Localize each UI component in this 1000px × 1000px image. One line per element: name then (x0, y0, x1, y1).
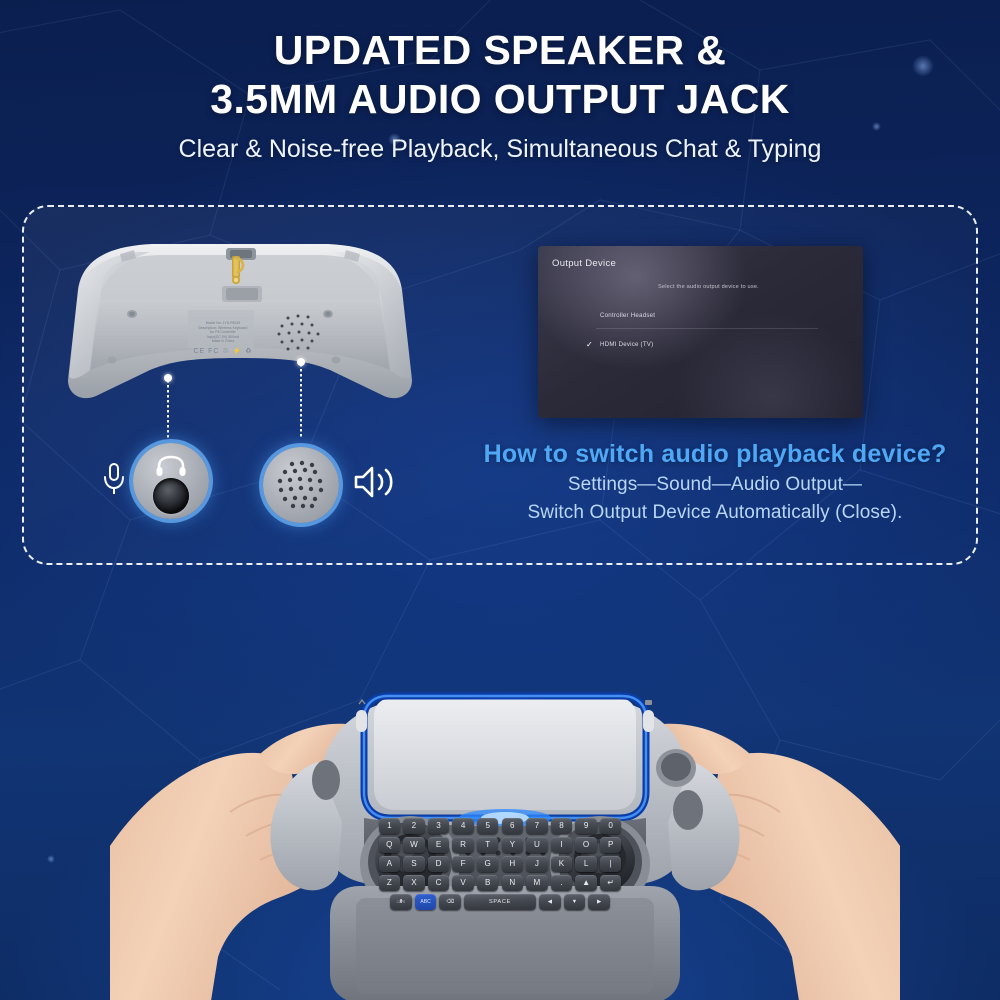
key-f[interactable]: F (452, 856, 474, 872)
key-3[interactable]: 3 (428, 818, 450, 834)
key-7[interactable]: 7 (526, 818, 548, 834)
key-a[interactable]: A (379, 856, 401, 872)
caps-lock-label: CAPS (390, 894, 412, 910)
key-2[interactable]: 2 (403, 818, 425, 834)
key-9[interactable]: 9 (575, 818, 597, 834)
key-l[interactable]: L (575, 856, 597, 872)
certification-marks: CE FC ♲ ⚡ ♻ (192, 347, 254, 355)
key-down-arrow[interactable]: ▼ (564, 894, 586, 910)
microphone-icon (101, 462, 127, 496)
key-g[interactable]: G (477, 856, 499, 872)
key-period[interactable]: . (551, 875, 573, 891)
key-4[interactable]: 4 (452, 818, 474, 834)
key-o[interactable]: O (575, 837, 597, 853)
keyboard-row-numbers: 1 2 3 4 5 6 7 8 9 0 (371, 818, 629, 834)
wireless-keyboard[interactable]: 1 2 3 4 5 6 7 8 9 0 Q W E R T Y U I O P … (371, 818, 629, 914)
hero-controller-in-hands (110, 612, 900, 1000)
key-1[interactable]: 1 (379, 818, 401, 834)
key-k[interactable]: K (551, 856, 573, 872)
screen-title: Output Device (552, 258, 616, 269)
headphone-icon (155, 455, 187, 477)
key-x[interactable]: X (403, 875, 425, 891)
key-z[interactable]: Z (379, 875, 401, 891)
how-to-path-line-2: Switch Output Device Automatically (Clos… (455, 502, 975, 524)
key-abc-mode[interactable]: ABC (415, 894, 437, 910)
keyboard-row-top: Q W E R T Y U I O P (371, 837, 629, 853)
callout-line-audio-jack (167, 378, 169, 436)
screen-hint-text: Select the audio output device to use. (658, 284, 759, 290)
callout-dashed-line (300, 364, 302, 438)
option-hdmi-device[interactable]: HDMI Device (TV) (600, 341, 653, 348)
speaker-wave-icon (352, 463, 396, 501)
keyboard-row-space: CAPS ⬆ ABC ⌫ SPACE ◀ ▼ ▶ (371, 894, 629, 910)
key-w[interactable]: W (403, 837, 425, 853)
headline-subtitle: Clear & Noise-free Playback, Simultaneou… (0, 132, 1000, 166)
key-p[interactable]: P (600, 837, 622, 853)
key-left-arrow[interactable]: ◀ (539, 894, 561, 910)
key-enter[interactable]: ↵ (600, 875, 622, 891)
key-d[interactable]: D (428, 856, 450, 872)
key-space[interactable]: SPACE (464, 894, 536, 910)
option-divider (596, 328, 818, 329)
key-5[interactable]: 5 (477, 818, 499, 834)
audio-jack-port (153, 478, 189, 514)
header-block: UPDATED SPEAKER & 3.5MM AUDIO OUTPUT JAC… (0, 0, 1000, 166)
ps5-settings-screen: Output Device Select the audio output de… (538, 246, 863, 418)
key-6[interactable]: 6 (502, 818, 524, 834)
key-caps-lock[interactable]: CAPS ⬆ (390, 894, 412, 910)
headline-line-2: 3.5MM AUDIO OUTPUT JACK (0, 75, 1000, 124)
keyboard-row-home: A S D F G H J K L | (371, 856, 629, 872)
key-t[interactable]: T (477, 837, 499, 853)
key-backspace[interactable]: ⌫ (439, 894, 461, 910)
key-j[interactable]: J (526, 856, 548, 872)
key-n[interactable]: N (502, 875, 524, 891)
key-e[interactable]: E (428, 837, 450, 853)
key-r[interactable]: R (452, 837, 474, 853)
key-m[interactable]: M (526, 875, 548, 891)
key-8[interactable]: 8 (551, 818, 573, 834)
key-right-arrow[interactable]: ▶ (588, 894, 610, 910)
callout-dashed-line (167, 380, 169, 438)
how-to-path-line-1: Settings—Sound—Audio Output— (455, 474, 975, 496)
speaker-grille-icon (272, 456, 330, 514)
label-origin: Made in China (190, 339, 256, 344)
how-to-question: How to switch audio playback device? (455, 440, 975, 469)
key-v[interactable]: V (452, 875, 474, 891)
key-pipe[interactable]: | (600, 856, 622, 872)
product-label-text: Model No: JYS-P5025 Description: Wireles… (190, 321, 256, 344)
key-y[interactable]: Y (502, 837, 524, 853)
callout-line-speaker (300, 362, 302, 436)
key-i[interactable]: I (551, 837, 573, 853)
key-b[interactable]: B (477, 875, 499, 891)
keyboard-row-bottom: Z X C V B N M . ▲ ↵ (371, 875, 629, 891)
key-u[interactable]: U (526, 837, 548, 853)
key-s[interactable]: S (403, 856, 425, 872)
option-controller-headset[interactable]: Controller Headset (600, 312, 655, 319)
key-h[interactable]: H (502, 856, 524, 872)
key-q[interactable]: Q (379, 837, 401, 853)
headline-line-1: UPDATED SPEAKER & (0, 26, 1000, 75)
key-up-arrow[interactable]: ▲ (575, 875, 597, 891)
key-c[interactable]: C (428, 875, 450, 891)
bokeh-dot (47, 855, 55, 863)
promo-image-canvas: UPDATED SPEAKER & 3.5MM AUDIO OUTPUT JAC… (0, 0, 1000, 1000)
controller-back-view (60, 230, 420, 405)
selected-check-icon: ✓ (586, 341, 593, 349)
key-0[interactable]: 0 (600, 818, 622, 834)
